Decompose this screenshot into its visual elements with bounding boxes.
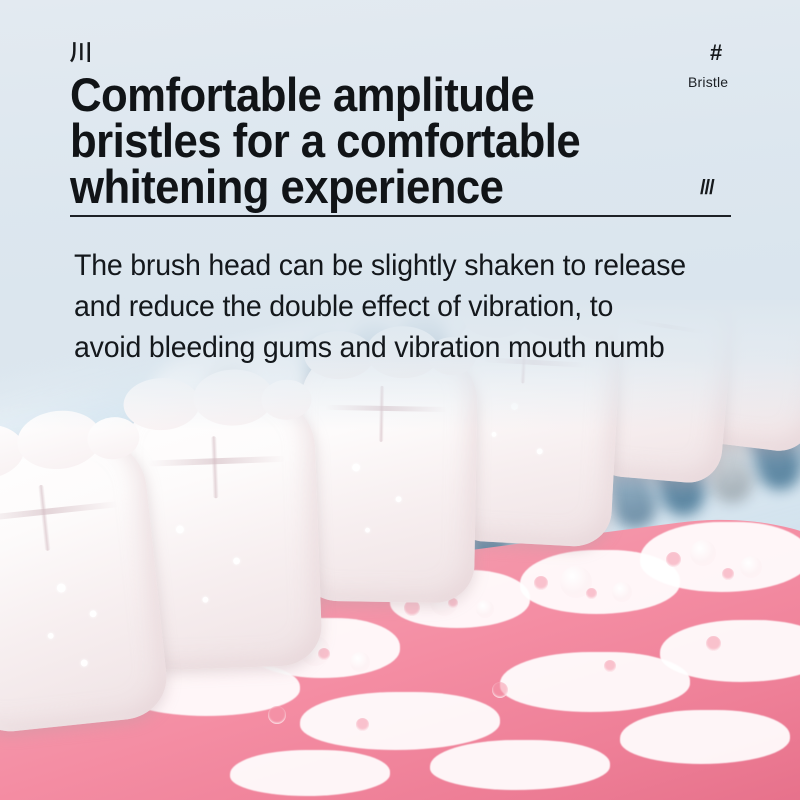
bars-icon: 川 [70, 42, 93, 64]
description-text: The brush head can be slightly shaken to… [74, 245, 758, 368]
divider [70, 215, 731, 217]
text-layer: 川 # Bristle /// Comfortable amplitude br… [0, 0, 800, 400]
hash-icon: # [710, 42, 722, 64]
slashes-icon: /// [700, 178, 714, 198]
page-title: Comfortable amplitude bristles for a com… [70, 72, 665, 210]
bristle-label: Bristle [688, 74, 728, 90]
product-feature-banner: 川 # Bristle /// Comfortable amplitude br… [0, 0, 800, 800]
